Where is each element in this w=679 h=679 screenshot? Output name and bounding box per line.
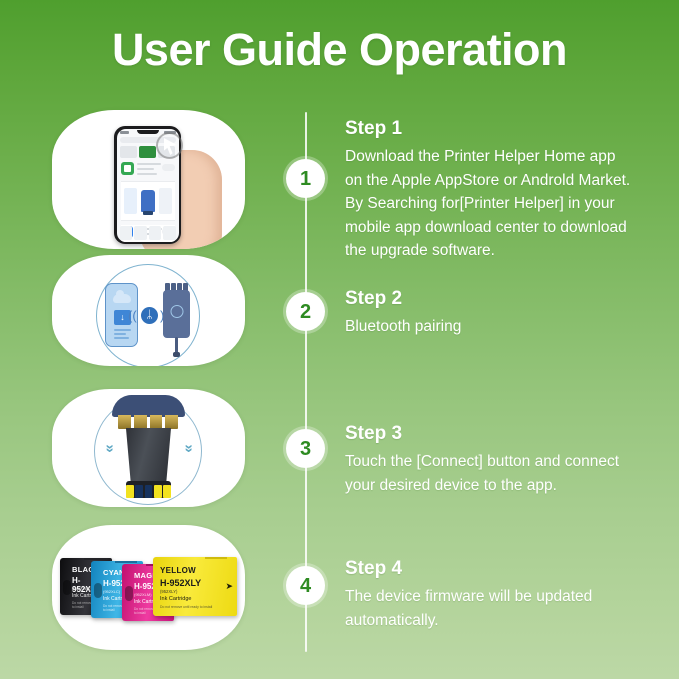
phone-tab-bar bbox=[120, 226, 176, 240]
step-1-number: 1 bbox=[300, 169, 311, 189]
step-4-title: Step 4 bbox=[345, 558, 665, 580]
cartridge-color-label: YELLOW bbox=[160, 566, 196, 575]
step-2-image-card: (( ᛦ )) bbox=[52, 255, 245, 366]
cartridge-yellow: YELLOW H-952XLY (952XLY) Ink Cartridge D… bbox=[153, 557, 237, 616]
arrow-right-icon: ➤ bbox=[225, 581, 233, 592]
step-3-body: Touch the [Connect] button and connect y… bbox=[345, 450, 665, 497]
page-title: User Guide Operation bbox=[0, 24, 679, 76]
step-3-text-block: Step 3 Touch the [Connect] button and co… bbox=[345, 423, 665, 497]
get-button bbox=[162, 164, 175, 171]
tab-thumb-active bbox=[139, 146, 156, 158]
app-icon-printer-helper bbox=[121, 162, 134, 175]
step-4-text-block: Step 4 The device firmware will be updat… bbox=[345, 558, 665, 632]
cartridge-notice: Do not remove until ready to install bbox=[160, 605, 212, 609]
step-1-title: Step 1 bbox=[345, 118, 665, 140]
step-3-number: 3 bbox=[300, 439, 311, 459]
step-4-number: 4 bbox=[300, 576, 311, 596]
step-2-number: 2 bbox=[300, 302, 311, 322]
cartridge-sub: (952XLY) bbox=[160, 589, 177, 594]
bluetooth-icon: ᛦ bbox=[141, 307, 158, 324]
signal-wave-left-icon: (( bbox=[128, 309, 137, 322]
illustration-bluetooth-pairing: (( ᛦ )) bbox=[52, 255, 245, 366]
cartridge-sub: (952XLM) bbox=[134, 592, 152, 597]
user-guide-poster: User Guide Operation bbox=[0, 0, 679, 679]
step-4-badge: 4 bbox=[286, 566, 325, 605]
illustration-ink-cartridges: BLACK H-952XLBK (952XLBK) Ink Cartridge … bbox=[52, 525, 245, 650]
chevron-down-icon: « bbox=[181, 444, 196, 452]
app-screenshot-hero bbox=[121, 181, 175, 221]
contact-pins bbox=[118, 415, 178, 429]
step-1-image-card bbox=[52, 110, 245, 249]
step-2-title: Step 2 bbox=[345, 288, 665, 310]
step-2-badge: 2 bbox=[286, 292, 325, 331]
cartridge-cap bbox=[112, 395, 185, 417]
cloud-icon bbox=[113, 294, 131, 303]
chevron-down-icon: « bbox=[102, 444, 117, 452]
cartridge-ink-label: Ink Cartridge bbox=[160, 596, 192, 602]
cartridge-code: H-952XLY bbox=[160, 578, 201, 588]
illustration-hand-holding-phone bbox=[52, 110, 245, 249]
dongle-cable bbox=[175, 337, 178, 354]
cartridge-sub: (952XLC) bbox=[103, 589, 120, 594]
tab-thumb bbox=[120, 146, 137, 158]
step-1-text-block: Step 1 Download the Printer Helper Home … bbox=[345, 118, 665, 263]
illustration-cartridge-insert: « « bbox=[52, 389, 245, 507]
step-2-text-block: Step 2 Bluetooth pairing bbox=[345, 288, 665, 339]
step-4-body: The device firmware will be updated auto… bbox=[345, 585, 665, 632]
step-3-badge: 3 bbox=[286, 429, 325, 468]
printer-graphic bbox=[141, 190, 155, 212]
step-4-image-card: BLACK H-952XLBK (952XLBK) Ink Cartridge … bbox=[52, 525, 245, 650]
cartridge-body bbox=[124, 428, 173, 484]
cartridge-sub: (952XLBK) bbox=[72, 586, 92, 591]
cartridge-base-contacts bbox=[126, 485, 171, 498]
step-2-body: Bluetooth pairing bbox=[345, 315, 665, 339]
step-1-body: Download the Printer Helper Home app on … bbox=[345, 145, 665, 263]
step-1-badge: 1 bbox=[286, 159, 325, 198]
step-3-title: Step 3 bbox=[345, 423, 665, 445]
bluetooth-dongle-device bbox=[163, 290, 190, 338]
step-3-image-card: « « bbox=[52, 389, 245, 507]
